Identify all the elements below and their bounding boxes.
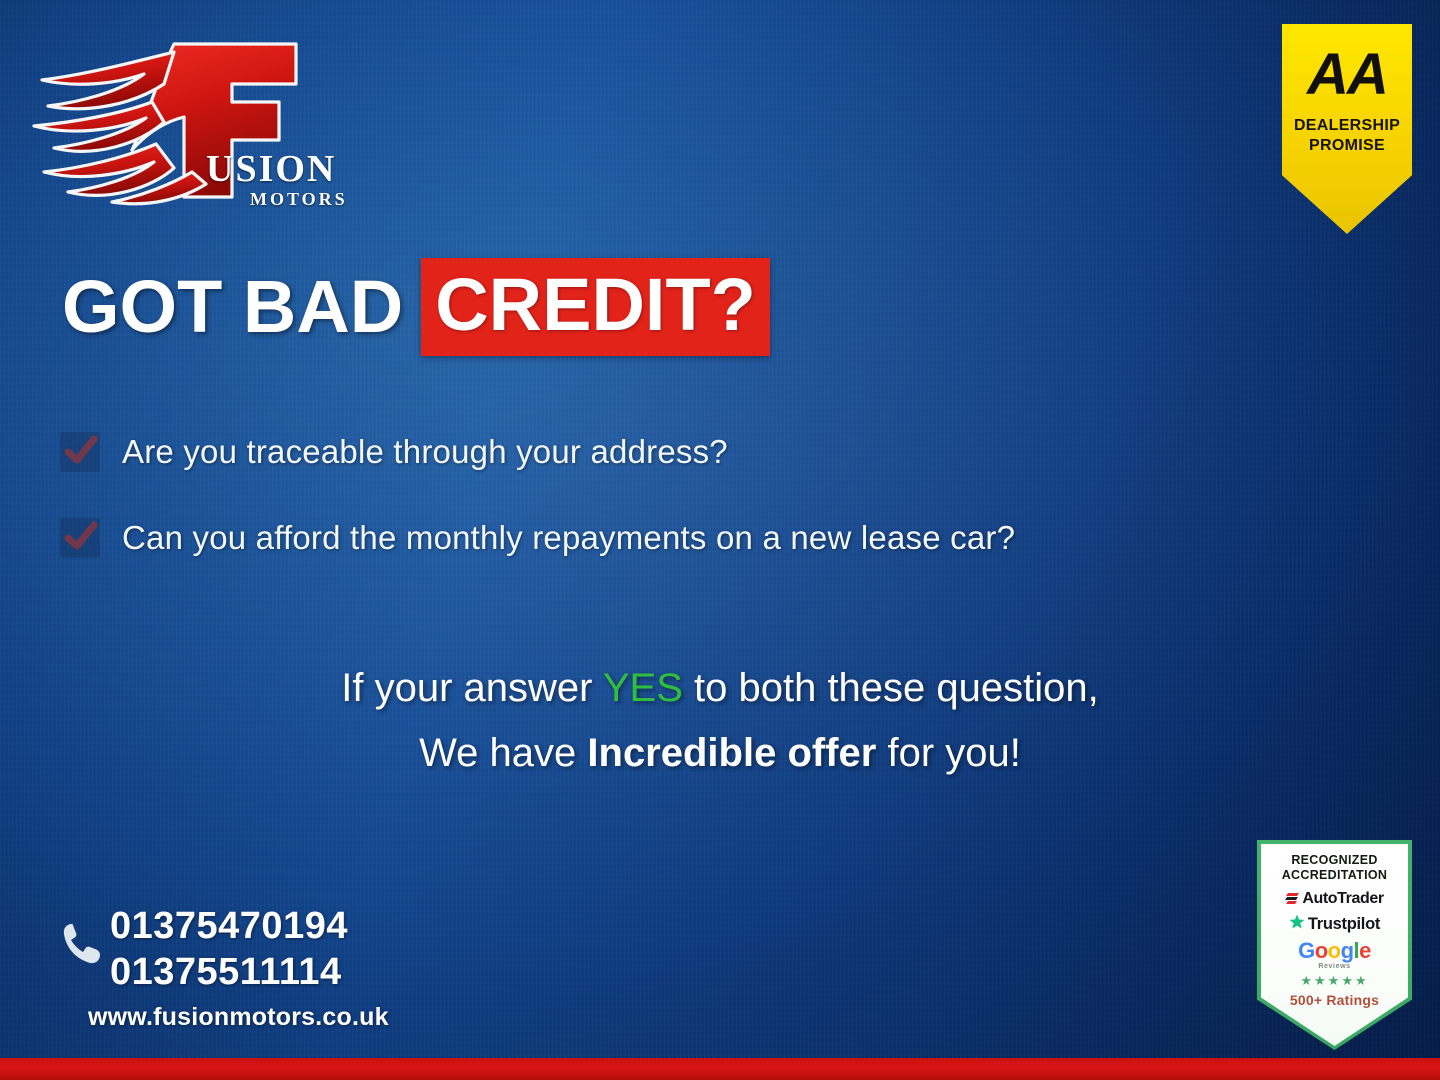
fusion-motors-logo: USION MOTORS: [24, 22, 354, 212]
bottom-accent-bar: [0, 1058, 1440, 1080]
advertisement-banner: USION MOTORS AA DEALERSHIP PROMISE GOT B…: [0, 0, 1440, 1080]
checklist-item: Can you afford the monthly repayments on…: [60, 518, 1160, 558]
autotrader-label: AutoTrader: [1302, 890, 1383, 908]
recognized-accreditation-badge: RECOGNIZED ACCREDITATION AutoTrader: [1257, 840, 1412, 1050]
phone-number-secondary[interactable]: 01375511114: [110, 949, 389, 995]
trustpilot-row: Trustpilot: [1289, 914, 1380, 935]
headline-plain-text: GOT BAD: [62, 270, 421, 344]
google-letter-o1: o: [1315, 938, 1328, 963]
google-reviews-label: Reviews: [1318, 963, 1350, 970]
aa-badge-line2: PROMISE: [1309, 136, 1385, 156]
autotrader-icon: [1285, 892, 1299, 905]
google-letter-g2: g: [1341, 938, 1354, 963]
message-text-c: We have: [419, 731, 587, 775]
contact-lines: 01375470194 01375511114 www.fusionmotors…: [110, 903, 389, 1032]
aa-dealership-promise-badge: AA DEALERSHIP PROMISE: [1282, 24, 1412, 234]
google-letter-g1: G: [1298, 938, 1315, 963]
message-text-a: If your answer: [341, 666, 603, 710]
ratings-count-label: 500+ Ratings: [1290, 992, 1379, 1008]
phone-icon: [60, 919, 104, 967]
star-rating-icons: ★★★★★: [1300, 974, 1368, 987]
phone-number-primary[interactable]: 01375470194: [110, 903, 389, 949]
checklist-item: Are you traceable through your address?: [60, 432, 1160, 472]
accreditation-title-line2: ACCREDITATION: [1282, 868, 1388, 883]
trustpilot-label: Trustpilot: [1308, 915, 1380, 934]
offer-message-line-2: We have Incredible offer for you!: [0, 721, 1440, 786]
checklist-item-label: Can you afford the monthly repayments on…: [122, 519, 1015, 557]
google-letter-e: e: [1359, 938, 1371, 963]
checkmark-icon: [60, 518, 100, 558]
offer-message-line-1: If your answer YES to both these questio…: [0, 656, 1440, 721]
google-wordmark: Google: [1298, 940, 1371, 962]
message-text-d: for you!: [876, 731, 1021, 775]
headline: GOT BAD CREDIT?: [62, 258, 770, 356]
message-text-b: to both these question,: [683, 666, 1099, 710]
logo-wordmark: USION: [206, 150, 336, 188]
headline-accent-text: CREDIT?: [435, 263, 756, 346]
accreditation-title-line1: RECOGNIZED: [1291, 853, 1377, 868]
google-letter-o2: o: [1328, 938, 1341, 963]
logo-subtext: MOTORS: [250, 190, 348, 208]
accreditation-shield-shape: RECOGNIZED ACCREDITATION AutoTrader: [1257, 840, 1412, 1050]
aa-shield-shape: AA DEALERSHIP PROMISE: [1282, 24, 1412, 234]
autotrader-row: AutoTrader: [1285, 890, 1383, 908]
trustpilot-star-icon: [1289, 914, 1305, 935]
aa-badge-line1: DEALERSHIP: [1294, 116, 1400, 136]
headline-accent-block: CREDIT?: [421, 258, 770, 356]
checkmark-icon: [60, 432, 100, 472]
question-checklist: Are you traceable through your address? …: [60, 432, 1160, 604]
website-url[interactable]: www.fusionmotors.co.uk: [88, 1003, 389, 1032]
contact-block: 01375470194 01375511114 www.fusionmotors…: [60, 903, 389, 1032]
offer-message: If your answer YES to both these questio…: [0, 656, 1440, 786]
accreditation-shield-inner: RECOGNIZED ACCREDITATION AutoTrader: [1261, 844, 1408, 1046]
checklist-item-label: Are you traceable through your address?: [122, 433, 728, 471]
aa-logo-text: AA: [1307, 46, 1387, 104]
message-offer-emphasis: Incredible offer: [587, 731, 876, 775]
message-yes-word: YES: [603, 666, 683, 710]
